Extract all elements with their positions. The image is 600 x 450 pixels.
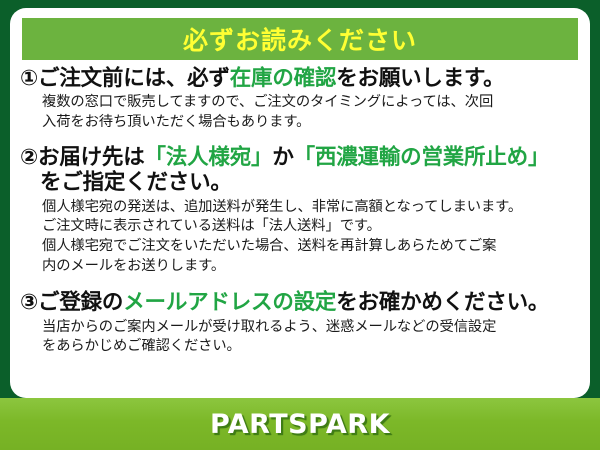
notice-footer: PARTSPARK — [0, 398, 600, 450]
notice-header: 必ずお読みください — [22, 18, 578, 60]
item-3-body-line-2: をあらかじめご確認ください。 — [42, 337, 584, 357]
item-2-heading-highlight: 「法人様宛」 — [145, 145, 273, 170]
item-1-heading-post: をお願いします。 — [336, 66, 504, 91]
item-3-marker: ③ — [20, 290, 38, 315]
item-3-heading-highlight: メールアドレスの設定 — [123, 290, 336, 315]
item-2-heading-mid: か — [272, 145, 293, 170]
item-2-heading: ②お届け先は「法人様宛」か「西濃運輸の営業所止め」をご指定ください。 — [20, 145, 584, 196]
item-3-heading: ③ご登録のメールアドレスの設定をお確かめください。 — [20, 290, 584, 315]
notice-card: 必ずお読みください ①ご注文前には、必ず在庫の確認をお願いします。 複数の窓口で… — [10, 8, 590, 398]
notice-content: ①ご注文前には、必ず在庫の確認をお願いします。 複数の窓口で販売してますので、ご… — [10, 64, 590, 357]
item-2-body-line-1: 個人様宅宛の発送は、追加送料が発生し、非常に高額となってしまいます。 — [42, 198, 584, 218]
item-1-heading-highlight: 在庫の確認 — [230, 66, 337, 91]
item-2-body-line-2: ご注文時に表示されている送料は「法人送料」です。 — [42, 217, 584, 237]
notice-item-3: ③ご登録のメールアドレスの設定をお確かめください。 当店からのご案内メールが受け… — [10, 290, 590, 357]
notice-item-2: ②お届け先は「法人様宛」か「西濃運輸の営業所止め」をご指定ください。 個人様宅宛… — [10, 145, 590, 277]
item-2-heading-post: をご指定ください。 — [40, 170, 584, 195]
notice-banner: 必ずお読みください ①ご注文前には、必ず在庫の確認をお願いします。 複数の窓口で… — [0, 0, 600, 450]
brand-logo-partspark: PARTSPARK — [210, 409, 390, 440]
item-2-heading-pre: お届け先は — [38, 145, 145, 170]
item-2-body: 個人様宅宛の発送は、追加送料が発生し、非常に高額となってしまいます。 ご注文時に… — [42, 198, 584, 277]
item-1-body-line-1: 複数の窓口で販売してますので、ご注文のタイミングによっては、次回 — [42, 93, 584, 113]
item-2-heading-highlight-2: 「西濃運輸の営業所止め」 — [294, 145, 550, 170]
item-1-body-line-2: 入荷をお待ち頂いただく場合もあります。 — [42, 113, 584, 133]
item-1-body: 複数の窓口で販売してますので、ご注文のタイミングによっては、次回 入荷をお待ち頂… — [42, 93, 584, 132]
item-2-body-line-3: 個人様宅宛でご注文をいただいた場合、送料を再計算しあらためてご案 — [42, 237, 584, 257]
item-1-marker: ① — [20, 66, 38, 91]
page-title: 必ずお読みください — [183, 21, 417, 57]
item-3-body-line-1: 当店からのご案内メールが受け取れるよう、迷惑メールなどの受信設定 — [42, 318, 584, 338]
item-3-body: 当店からのご案内メールが受け取れるよう、迷惑メールなどの受信設定 をあらかじめご… — [42, 318, 584, 357]
notice-item-1: ①ご注文前には、必ず在庫の確認をお願いします。 複数の窓口で販売してますので、ご… — [10, 66, 590, 133]
item-3-heading-post: をお確かめください。 — [336, 290, 549, 315]
item-3-heading-pre: ご登録の — [38, 290, 123, 315]
item-2-marker: ② — [20, 145, 38, 170]
item-1-heading: ①ご注文前には、必ず在庫の確認をお願いします。 — [20, 66, 584, 91]
item-2-body-line-4: 内のメールをお送りします。 — [42, 257, 584, 277]
item-1-heading-pre: ご注文前には、必ず — [38, 66, 230, 91]
